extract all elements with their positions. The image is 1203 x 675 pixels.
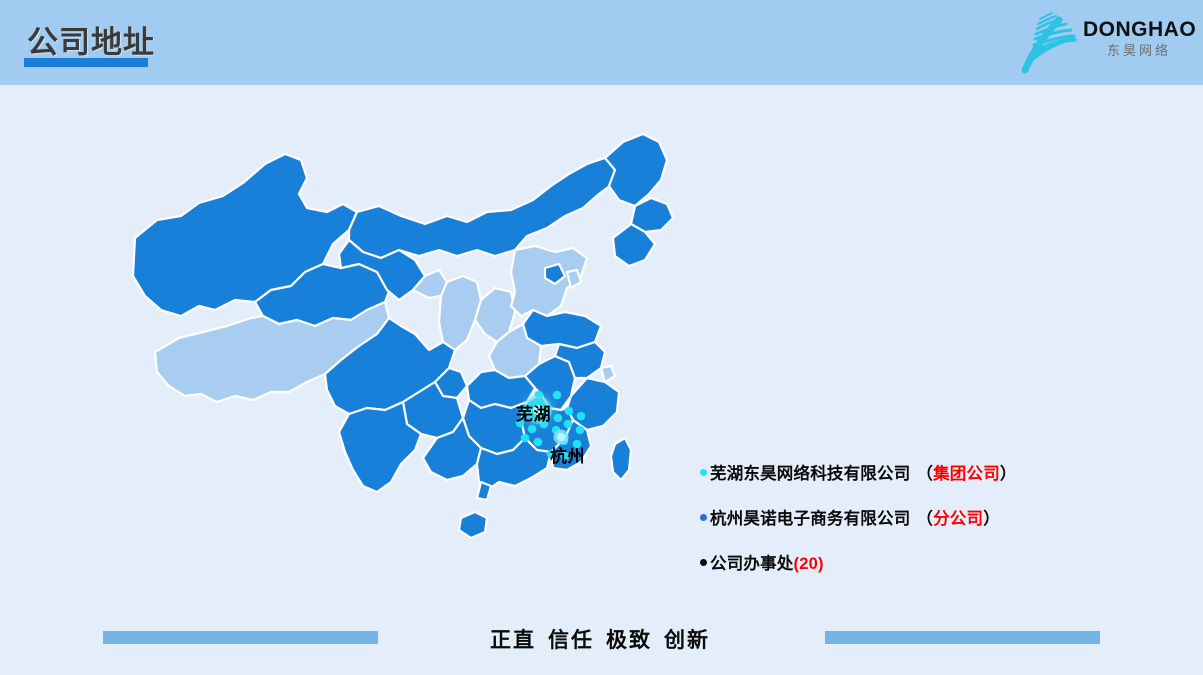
legend-bullet-blue-icon [700, 514, 707, 521]
slide-canvas: 公司地址 DONGHAO 东昊网络 [0, 0, 1203, 675]
legend-close-paren: ） [1000, 460, 1017, 484]
legend-item-tag: 集团公司 [933, 460, 1000, 484]
legend-item-branch-company: 杭州昊诺电子商务有限公司 （ 分公司 ） [700, 505, 1120, 529]
map-label-wuhu: 芜湖 [516, 400, 551, 425]
legend-item-label: 芜湖东昊网络科技有限公司 [710, 460, 910, 484]
donghao-feather-logo-icon [1015, 8, 1087, 74]
slogan-word-4: 创新 [664, 629, 710, 652]
page-title: 公司地址 [27, 17, 155, 62]
logo-text-block: DONGHAO 东昊网络 [1083, 18, 1193, 60]
legend-bullet-cyan-icon [700, 469, 707, 476]
slogan-word-3: 极致 [606, 629, 652, 652]
footer-bar-left [103, 631, 378, 644]
legend-open-paren: （ [916, 460, 933, 484]
logo-subtitle: 东昊网络 [1083, 42, 1193, 60]
map-provinces [133, 134, 673, 538]
company-logo: DONGHAO 东昊网络 [1013, 6, 1193, 78]
legend-item-group-company: 芜湖东昊网络科技有限公司 （ 集团公司 ） [700, 460, 1120, 484]
legend-item-tag: 分公司 [933, 505, 983, 529]
legend-open-paren: （ [916, 505, 933, 529]
legend-item-offices: 公司办事处 (20) [700, 550, 1120, 574]
legend-item-label: 公司办事处 [710, 550, 794, 574]
legend-close-paren: ） [983, 505, 1000, 529]
legend-item-count: (20) [794, 555, 824, 574]
legend-list: 芜湖东昊网络科技有限公司 （ 集团公司 ） 杭州昊诺电子商务有限公司 （ 分公司… [700, 460, 1120, 595]
china-map: 芜湖 杭州 [95, 120, 695, 610]
legend-item-label: 杭州昊诺电子商务有限公司 [710, 505, 910, 529]
legend-bullet-black-icon [700, 559, 707, 566]
logo-name: DONGHAO [1083, 18, 1193, 42]
footer-bar-right [825, 631, 1100, 644]
slogan-word-2: 信任 [548, 629, 594, 652]
map-label-hangzhou: 杭州 [550, 442, 585, 467]
title-underline-bar [24, 58, 148, 67]
footer-slogan: 正直信任极致创新 [455, 624, 745, 654]
slogan-word-1: 正直 [490, 629, 536, 652]
